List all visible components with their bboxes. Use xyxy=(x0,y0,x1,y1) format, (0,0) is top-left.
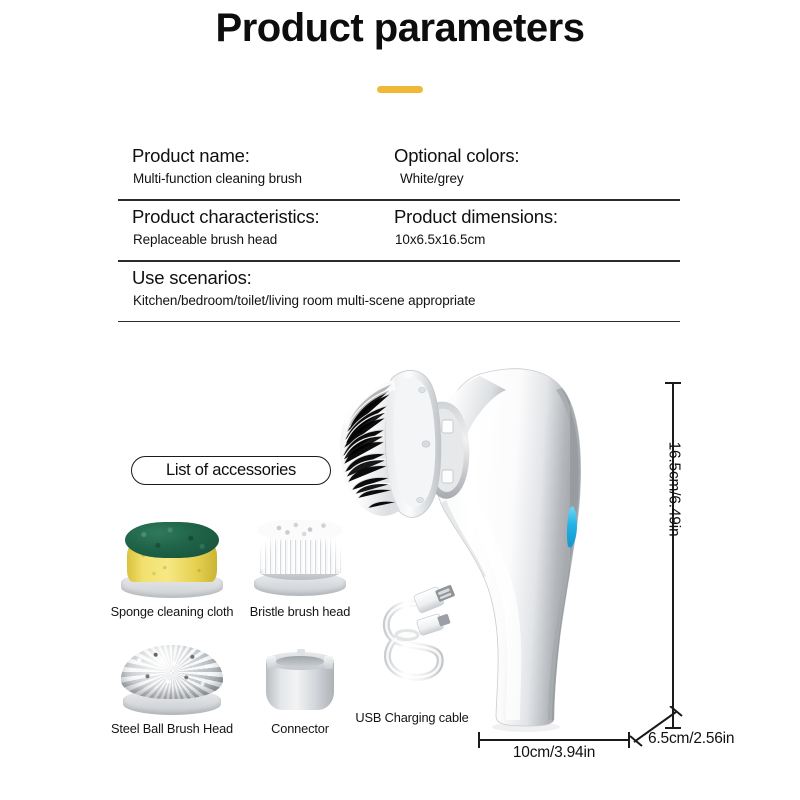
product-brush-head xyxy=(340,370,441,517)
accessories-list-badge: List of accessories xyxy=(131,456,331,485)
spec-value: Kitchen/bedroom/toilet/living room multi… xyxy=(132,291,680,311)
scrub-pad xyxy=(125,522,219,558)
connector-ring-icon xyxy=(263,650,337,718)
latch-clip xyxy=(442,420,453,433)
table-divider xyxy=(118,321,680,323)
spec-cell-product-dimensions: Product dimensions: 10x6.5x16.5cm xyxy=(390,201,680,260)
disc-screw xyxy=(417,497,424,502)
dimension-label-depth: 6.5cm/2.56in xyxy=(648,730,734,748)
dimension-label-width: 10cm/3.94in xyxy=(478,744,630,762)
spec-label: Optional colors: xyxy=(394,144,680,169)
accessories-list-label: List of accessories xyxy=(166,461,296,480)
steel-mesh-disc-icon xyxy=(119,645,225,717)
connector-bore xyxy=(276,656,324,667)
connector-key-tab xyxy=(297,649,305,656)
connector-notch xyxy=(267,656,276,669)
sponge-disc-icon xyxy=(119,520,225,598)
spec-row: Product characteristics: Replaceable bru… xyxy=(118,201,680,260)
dimension-label-height: 16.5cm/6.49in xyxy=(664,442,682,537)
spec-cell-product-name: Product name: Multi-function cleaning br… xyxy=(118,140,390,199)
spec-cell-optional-colors: Optional colors: White/grey xyxy=(390,140,680,199)
spec-value: 10x6.5x16.5cm xyxy=(394,230,680,250)
spec-value: Multi-function cleaning brush xyxy=(132,169,390,189)
steel-mesh xyxy=(121,645,223,699)
spec-row: Product name: Multi-function cleaning br… xyxy=(118,140,680,199)
dimension-line-vertical xyxy=(672,382,674,729)
spec-row: Use scenarios: Kitchen/bedroom/toilet/li… xyxy=(118,262,680,321)
disc-screw xyxy=(419,387,426,392)
product-svg xyxy=(330,360,670,735)
title-accent-bar xyxy=(377,86,423,93)
spec-value: Replaceable brush head xyxy=(132,230,390,250)
spec-label: Product characteristics: xyxy=(132,205,390,230)
latch-clip xyxy=(442,470,453,483)
spec-cell-use-scenarios: Use scenarios: Kitchen/bedroom/toilet/li… xyxy=(118,262,680,321)
dimension-line-horizontal xyxy=(478,739,630,741)
spec-table: Product name: Multi-function cleaning br… xyxy=(118,140,680,322)
spec-value: White/grey xyxy=(394,169,680,189)
spec-label: Product dimensions: xyxy=(394,205,680,230)
spec-label: Product name: xyxy=(132,144,390,169)
product-image-handheld-cleaning-brush xyxy=(330,360,670,735)
spec-cell-product-characteristics: Product characteristics: Replaceable bru… xyxy=(118,201,390,260)
spec-label: Use scenarios: xyxy=(132,266,680,291)
page-title: Product parameters xyxy=(0,6,800,51)
disc-screw xyxy=(422,441,430,447)
